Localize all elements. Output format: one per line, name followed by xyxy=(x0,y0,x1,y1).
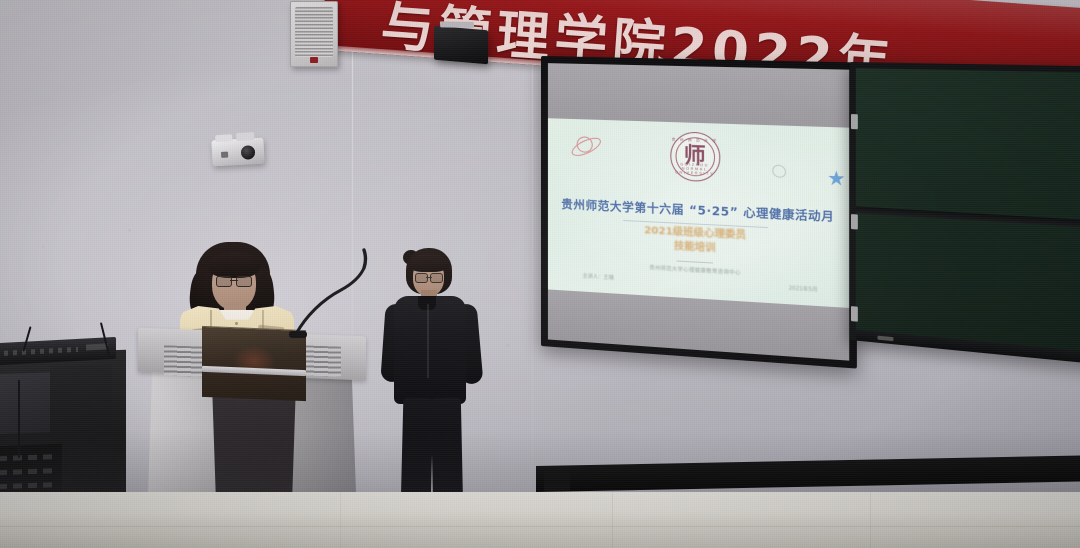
projection-screen: 贵 州 师 范 大 学 师 GUIZHOU NORMAL UNIVERSITY … xyxy=(541,56,857,369)
camera-top-right xyxy=(236,132,254,141)
seal-arc-bottom: GUIZHOU NORMAL UNIVERSITY xyxy=(671,162,719,176)
floor-grout-v3 xyxy=(340,492,341,548)
speaker-fringe xyxy=(208,252,260,278)
floor-grout-v2 xyxy=(870,492,871,548)
blackboard-surface xyxy=(856,68,1080,358)
lectern-wood-panel xyxy=(202,326,306,401)
presentation-slide: 贵 州 师 范 大 学 师 GUIZHOU NORMAL UNIVERSITY … xyxy=(548,118,849,308)
lectern-vent-left xyxy=(164,345,204,376)
presenter-glasses-icon xyxy=(415,273,443,281)
presenter-fringe xyxy=(409,254,448,272)
wall-seam-left xyxy=(352,26,353,356)
tile-floor xyxy=(0,492,1080,548)
ceiling-camera xyxy=(211,138,264,167)
floor-grout-v1 xyxy=(612,492,613,548)
chalk-piece xyxy=(877,336,893,342)
blackboard-clip-mid xyxy=(851,214,858,229)
floor-reflection xyxy=(0,492,1080,548)
floor-grout-h1 xyxy=(0,526,1080,527)
presenter-jacket xyxy=(394,296,466,404)
speaker-grille xyxy=(295,7,333,57)
blackboard-clip-bottom xyxy=(851,306,858,322)
blackboard-divider xyxy=(856,207,1080,229)
speaker-glasses-icon xyxy=(216,276,252,285)
blackboard-clip-top xyxy=(851,114,858,129)
wall-speaker xyxy=(290,1,338,67)
speaker-bracket xyxy=(440,21,474,28)
seal-arc-top: 贵 州 师 范 大 学 xyxy=(671,137,719,144)
av-led-strip-icon xyxy=(4,347,78,356)
speaker-badge xyxy=(310,57,318,63)
screen-surface: 贵 州 师 范 大 学 师 GUIZHOU NORMAL UNIVERSITY … xyxy=(548,63,849,361)
camera-led-icon xyxy=(221,152,228,158)
lectern-vent-right xyxy=(301,345,341,376)
black-speaker xyxy=(434,26,488,65)
blackboard xyxy=(850,62,1080,365)
av-control-panel xyxy=(0,444,62,498)
camera-lens-icon xyxy=(241,145,256,160)
av-cable-drop xyxy=(18,380,20,458)
baseboard-notch xyxy=(544,469,570,491)
camera-top-left xyxy=(215,134,232,142)
presenter-zipper xyxy=(427,304,429,378)
photo-scene: 与管理学院2022年 贵 州 师 范 大 学 师 xyxy=(0,0,1080,548)
wall-seam-right xyxy=(532,40,533,470)
